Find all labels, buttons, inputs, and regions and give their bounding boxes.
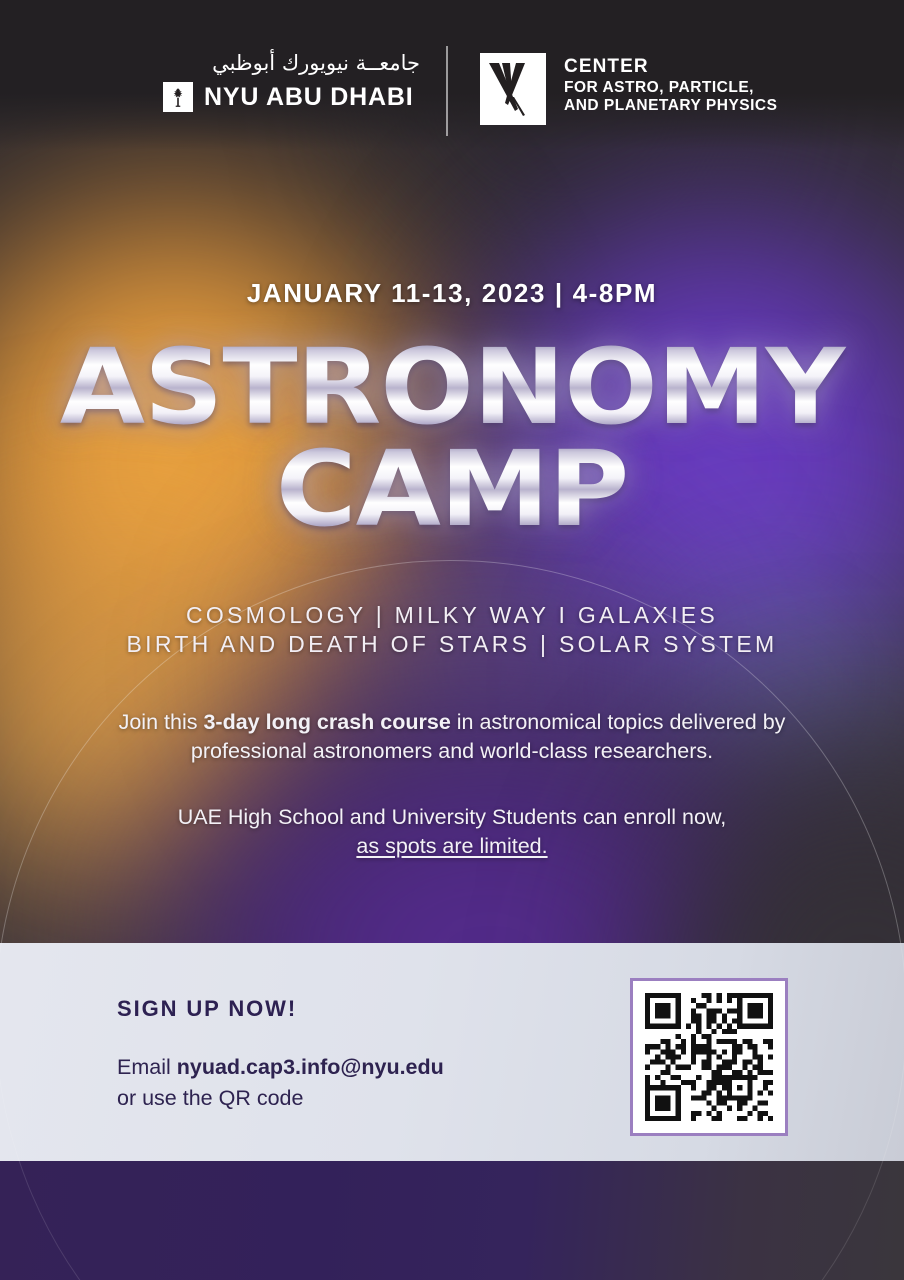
- signup-email-prefix: Email: [117, 1055, 177, 1079]
- header-divider: [446, 46, 448, 136]
- bottom-band: [0, 1161, 904, 1280]
- signup-heading: SIGN UP NOW!: [117, 996, 297, 1022]
- nyu-abu-dhabi-logo: جامعــة نيويورك أبوظبي NYU ABU DHABI: [163, 52, 423, 112]
- event-title: ASTRONOMY CAMP: [0, 340, 904, 537]
- cap-center-logo: CENTER FOR ASTRO, PARTICLE, AND PLANETAR…: [480, 53, 777, 125]
- topics-line-1: COSMOLOGY | MILKY WAY I GALAXIES: [0, 603, 904, 629]
- topics-line-2: BIRTH AND DEATH OF STARS | SOLAR SYSTEM: [0, 632, 904, 658]
- nyu-wordmark: NYU ABU DHABI: [204, 83, 413, 112]
- description-p1-a: Join this: [119, 710, 204, 734]
- description-block: Join this 3-day long crash course in ast…: [82, 708, 822, 862]
- event-title-line-1: ASTRONOMY: [0, 340, 904, 436]
- qr-code[interactable]: [630, 978, 788, 1136]
- cap-center-text: CENTER FOR ASTRO, PARTICLE, AND PLANETAR…: [564, 53, 777, 116]
- astronomy-camp-poster: جامعــة نيويورك أبوظبي NYU ABU DHABI: [0, 0, 904, 1280]
- topics-list: COSMOLOGY | MILKY WAY I GALAXIES BIRTH A…: [0, 603, 904, 661]
- description-p2-underlined: as spots are limited.: [356, 834, 547, 858]
- signup-email-address[interactable]: nyuad.cap3.info@nyu.edu: [177, 1055, 444, 1079]
- cap-telescope-mark-icon: [480, 53, 546, 125]
- signup-contact: Email nyuad.cap3.info@nyu.edu or use the…: [117, 1052, 444, 1114]
- signup-email-row: Email nyuad.cap3.info@nyu.edu: [117, 1052, 444, 1083]
- signup-qr-hint: or use the QR code: [117, 1083, 444, 1114]
- description-paragraph-2: UAE High School and University Students …: [82, 803, 822, 862]
- nyu-torch-icon: [163, 82, 193, 112]
- cap-line-3: AND PLANETARY PHYSICS: [564, 97, 777, 116]
- poster-header: جامعــة نيويورك أبوظبي NYU ABU DHABI: [0, 0, 904, 150]
- description-p1-bold: 3-day long crash course: [203, 710, 450, 734]
- nyu-arabic-wordmark: جامعــة نيويورك أبوظبي: [163, 52, 423, 75]
- qr-code-canvas[interactable]: [645, 993, 773, 1121]
- cap-line-2: FOR ASTRO, PARTICLE,: [564, 79, 777, 98]
- event-title-line-2: CAMP: [0, 442, 904, 538]
- description-paragraph-1: Join this 3-day long crash course in ast…: [82, 708, 822, 767]
- event-date-line: JANUARY 11-13, 2023 | 4-8PM: [0, 278, 904, 309]
- description-p2-a: UAE High School and University Students …: [178, 805, 727, 829]
- cap-line-1: CENTER: [564, 56, 777, 79]
